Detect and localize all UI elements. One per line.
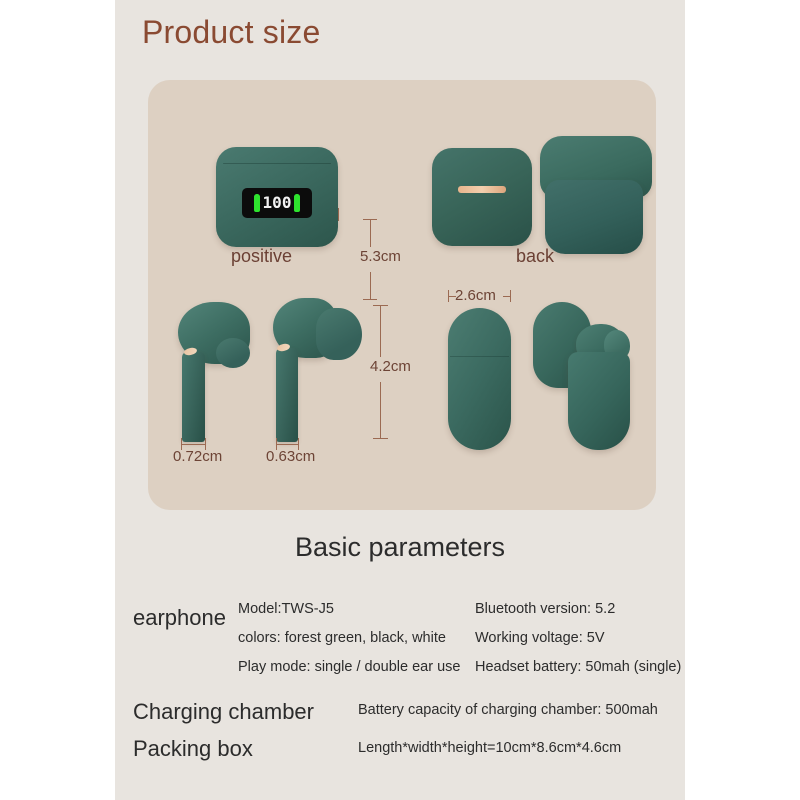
dim-label-earbud-height: 4.2cm <box>370 358 411 375</box>
spec-model: Model:TWS-J5 <box>238 601 334 617</box>
earbud-side-eartip <box>316 308 362 360</box>
dim-label-earbud-front-width: 0.72cm <box>173 448 222 465</box>
dim-label-case-height: 5.3cm <box>360 248 401 265</box>
page-title: Product size <box>142 14 320 51</box>
spec-working-voltage: Working voltage: 5V <box>475 630 605 646</box>
dim-line-height-b <box>370 272 371 299</box>
dim-cap-bottom-height <box>363 299 377 300</box>
spec-category-packing-box: Packing box <box>133 736 253 762</box>
charging-port <box>458 186 506 193</box>
charging-case-open-body <box>568 352 630 450</box>
led-battery-display: 100 <box>242 188 312 218</box>
dim-cap-right-26 <box>510 290 511 302</box>
section-title-basic-parameters: Basic parameters <box>0 532 800 563</box>
product-size-infographic: Product size 5.9cm 5.3cm 100 positive <box>0 0 800 800</box>
case-lid-seam <box>223 163 330 164</box>
earbud-side-stem <box>276 348 298 442</box>
charging-case-iso-body <box>545 180 643 254</box>
caption-positive: positive <box>231 246 292 267</box>
case-side-seam <box>450 356 509 357</box>
battery-digits: 100 <box>263 195 292 211</box>
dim-line-063 <box>276 444 298 445</box>
earbud-front-stem <box>182 352 205 442</box>
spec-packing-dimensions: Length*width*height=10cm*8.6cm*4.6cm <box>358 740 621 756</box>
spec-bluetooth-version: Bluetooth version: 5.2 <box>475 601 615 617</box>
earbud-front-tip <box>216 338 250 368</box>
dim-line-42-b <box>380 382 381 438</box>
dim-cap-right-width <box>338 208 339 221</box>
spec-category-charging-chamber: Charging chamber <box>133 699 314 725</box>
spec-headset-battery: Headset battery: 50mah (single) <box>475 659 681 675</box>
caption-back: back <box>516 246 554 267</box>
earbud-icon-right <box>294 194 300 212</box>
dim-line-height-a <box>370 219 371 247</box>
spec-play-mode: Play mode: single / double ear use <box>238 659 460 675</box>
charging-case-side <box>448 308 511 450</box>
spec-chamber-battery: Battery capacity of charging chamber: 50… <box>358 702 658 718</box>
dim-label-case-depth: 2.6cm <box>455 287 496 304</box>
earbud-icon-left <box>254 194 260 212</box>
spec-category-earphone: earphone <box>133 605 226 631</box>
charging-case-front: 100 <box>216 147 338 247</box>
dim-cap-bottom-42 <box>373 438 388 439</box>
spec-colors: colors: forest green, black, white <box>238 630 446 646</box>
dim-line-072 <box>181 444 206 445</box>
product-size-card: 5.9cm 5.3cm 100 positive back <box>148 80 656 510</box>
dim-label-earbud-side-width: 0.63cm <box>266 448 315 465</box>
charging-case-back <box>432 148 532 246</box>
dim-line-42-a <box>380 305 381 357</box>
